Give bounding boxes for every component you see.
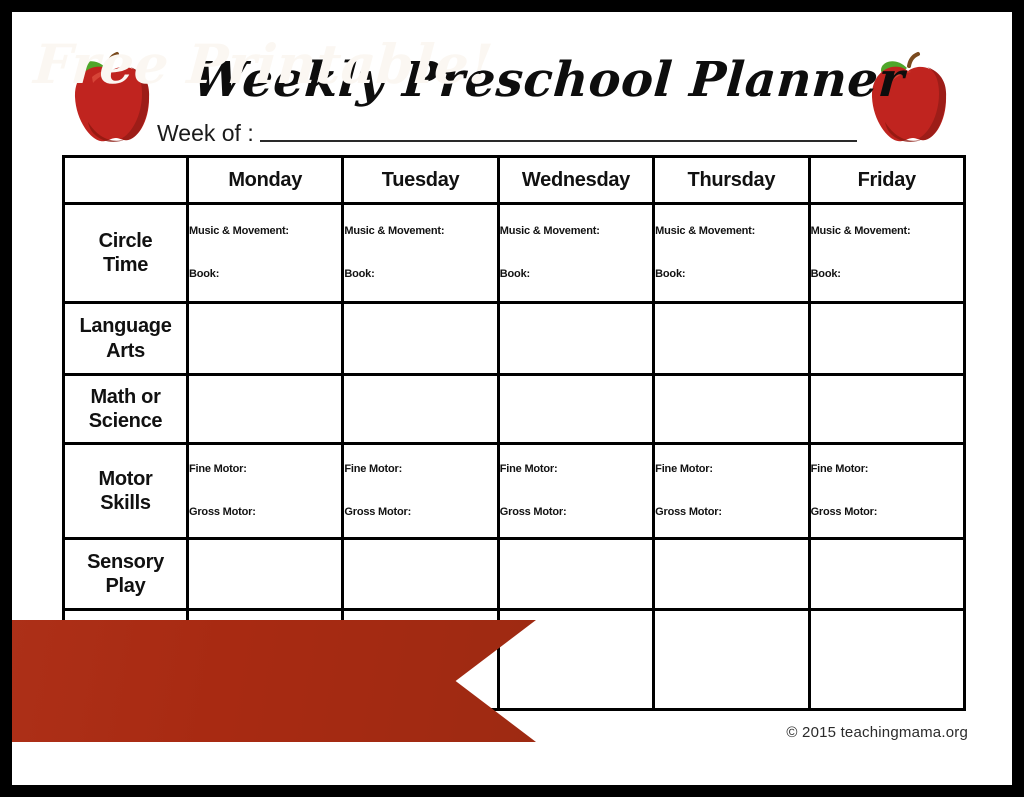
row-label-line: Skills (65, 491, 186, 515)
planner-cell[interactable] (809, 303, 964, 375)
table-row: SensoryPlay (64, 539, 965, 610)
planner-cell[interactable] (188, 303, 343, 375)
table-row: MotorSkillsFine Motor:Gross Motor:Fine M… (64, 444, 965, 539)
week-of-field[interactable]: Week of : (157, 122, 857, 145)
row-label-line: Language (65, 314, 186, 338)
cell-subfield-label: Book: (811, 269, 963, 280)
table-row: Math orScience (64, 375, 965, 444)
planner-cell[interactable] (809, 539, 964, 610)
row-label-line: Time (65, 253, 186, 277)
printable-sheet: Weekly Preschool Planner Week of : Monda… (12, 12, 1012, 785)
planner-cell[interactable] (809, 375, 964, 444)
cell-subfield-label: Fine Motor: (189, 464, 341, 475)
cell-subfield-label: Book: (500, 269, 652, 280)
row-label-line: Play (65, 574, 186, 598)
row-label-sensory-play: SensoryPlay (64, 539, 188, 610)
table-header-row: Monday Tuesday Wednesday Thursday Friday (64, 157, 965, 204)
cell-subfield-label: Music & Movement: (344, 226, 496, 237)
planner-cell[interactable]: Fine Motor:Gross Motor: (809, 444, 964, 539)
planner-cell[interactable]: Music & Movement:Book: (654, 204, 809, 303)
row-label-line: Arts (65, 339, 186, 363)
planner-cell[interactable] (343, 303, 498, 375)
planner-cell[interactable] (188, 375, 343, 444)
cell-subfield-label: Book: (655, 269, 807, 280)
row-label-math or-science: Math orScience (64, 375, 188, 444)
cell-subfield-label: Music & Movement: (811, 226, 963, 237)
planner-cell[interactable]: Fine Motor:Gross Motor: (188, 444, 343, 539)
planner-cell[interactable]: Music & Movement:Book: (188, 204, 343, 303)
planner-cell[interactable]: Fine Motor:Gross Motor: (654, 444, 809, 539)
day-header-friday: Friday (809, 157, 964, 204)
cell-subfield-label: Gross Motor: (655, 507, 807, 518)
cell-subfield-label: Gross Motor: (189, 507, 341, 518)
week-of-input-line[interactable] (260, 140, 857, 142)
table-row: LanguageArts (64, 303, 965, 375)
row-label-line: Circle (65, 229, 186, 253)
cell-subfield-label: Gross Motor: (344, 507, 496, 518)
planner-cell[interactable] (654, 539, 809, 610)
cell-subfield-label: Fine Motor: (344, 464, 496, 475)
cell-subfield-label: Gross Motor: (500, 507, 652, 518)
planner-cell[interactable]: Fine Motor:Gross Motor: (498, 444, 653, 539)
free-printable-banner-label: Free Printable! (31, 28, 466, 101)
day-header-thursday: Thursday (654, 157, 809, 204)
cell-subfield-label: Gross Motor: (811, 507, 963, 518)
planner-cell[interactable] (498, 539, 653, 610)
cell-subfield-label: Music & Movement: (655, 226, 807, 237)
cell-subfield-label: Book: (344, 269, 496, 280)
cell-subfield-label: Music & Movement: (500, 226, 652, 237)
planner-cell[interactable] (343, 375, 498, 444)
row-label-line: Motor (65, 467, 186, 491)
table-corner-header (64, 157, 188, 204)
cell-subfield-label: Fine Motor: (500, 464, 652, 475)
row-label-motor-skills: MotorSkills (64, 444, 188, 539)
planner-cell[interactable] (809, 610, 964, 710)
row-label-line: Sensory (65, 550, 186, 574)
cell-subfield-label: Fine Motor: (655, 464, 807, 475)
week-of-label: Week of : (157, 122, 260, 145)
day-header-wednesday: Wednesday (498, 157, 653, 204)
planner-cell[interactable] (654, 610, 809, 710)
copyright-notice: © 2015 teachingmama.org (786, 724, 968, 741)
planner-cell[interactable] (188, 539, 343, 610)
day-header-tuesday: Tuesday (343, 157, 498, 204)
planner-cell[interactable]: Fine Motor:Gross Motor: (343, 444, 498, 539)
planner-cell[interactable]: Music & Movement:Book: (498, 204, 653, 303)
page-frame: Weekly Preschool Planner Week of : Monda… (0, 0, 1024, 797)
cell-subfield-label: Fine Motor: (811, 464, 963, 475)
planner-cell[interactable] (654, 375, 809, 444)
row-label-circle-time: CircleTime (64, 204, 188, 303)
cell-subfield-label: Book: (189, 269, 341, 280)
planner-cell[interactable] (654, 303, 809, 375)
planner-cell[interactable] (498, 303, 653, 375)
table-row: CircleTimeMusic & Movement:Book:Music & … (64, 204, 965, 303)
planner-cell[interactable]: Music & Movement:Book: (809, 204, 964, 303)
row-label-language-arts: LanguageArts (64, 303, 188, 375)
cell-subfield-label: Music & Movement: (189, 226, 341, 237)
row-label-line: Science (65, 409, 186, 433)
planner-cell[interactable]: Music & Movement:Book: (343, 204, 498, 303)
day-header-monday: Monday (188, 157, 343, 204)
row-label-line: Math or (65, 385, 186, 409)
planner-cell[interactable] (343, 539, 498, 610)
planner-cell[interactable] (498, 375, 653, 444)
